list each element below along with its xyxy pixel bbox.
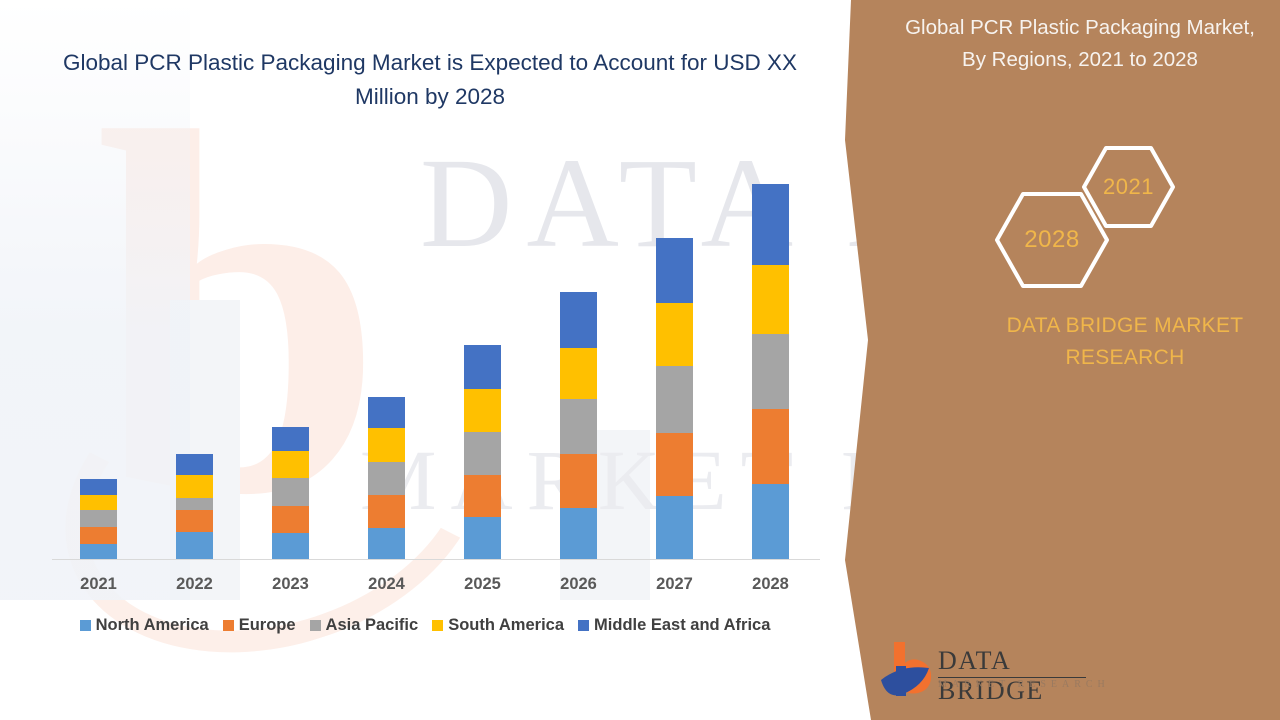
bar-segment[interactable] xyxy=(464,432,501,475)
bar-segment[interactable] xyxy=(656,303,693,366)
legend-item-europe[interactable]: Europe xyxy=(223,616,296,635)
bar-segment[interactable] xyxy=(80,479,117,495)
bar-segment[interactable] xyxy=(272,533,309,559)
bar-segment[interactable] xyxy=(560,508,597,559)
x-axis-label-2021: 2021 xyxy=(59,575,139,594)
bar-segment[interactable] xyxy=(176,475,213,498)
hexagon-2028-label: 2028 xyxy=(1024,226,1079,254)
slide-canvas: b DATA BRIDGE MARKET RESEARCH Global PCR… xyxy=(0,0,1280,720)
bar-segment[interactable] xyxy=(368,462,405,495)
bar-2028[interactable] xyxy=(752,184,789,559)
bar-segment[interactable] xyxy=(272,451,309,478)
bar-2027[interactable] xyxy=(656,238,693,559)
bar-segment[interactable] xyxy=(656,496,693,559)
bar-segment[interactable] xyxy=(464,475,501,517)
brand-name: DATA BRIDGE MARKET RESEARCH xyxy=(960,310,1280,374)
bar-2025[interactable] xyxy=(464,345,501,559)
bar-segment[interactable] xyxy=(560,399,597,454)
bar-segment[interactable] xyxy=(80,495,117,510)
bar-segment[interactable] xyxy=(752,484,789,559)
x-axis-label-2026: 2026 xyxy=(539,575,619,594)
bar-segment[interactable] xyxy=(752,334,789,409)
x-axis-label-2028: 2028 xyxy=(731,575,811,594)
bar-segment[interactable] xyxy=(80,510,117,527)
bar-2024[interactable] xyxy=(368,397,405,559)
bar-segment[interactable] xyxy=(176,510,213,532)
legend-swatch-icon xyxy=(223,620,234,631)
bar-segment[interactable] xyxy=(176,454,213,475)
data-bridge-logo: DATA BRIDGE MARKET RESEARCH xyxy=(880,638,1110,710)
bar-segment[interactable] xyxy=(368,397,405,428)
bar-segment[interactable] xyxy=(368,528,405,559)
chart-legend: North AmericaEuropeAsia PacificSouth Ame… xyxy=(0,616,850,635)
bar-segment[interactable] xyxy=(656,238,693,303)
legend-label: Europe xyxy=(239,616,296,635)
bar-segment[interactable] xyxy=(560,292,597,348)
bar-segment[interactable] xyxy=(560,454,597,508)
bar-2021[interactable] xyxy=(80,479,117,559)
bar-segment[interactable] xyxy=(80,544,117,559)
x-axis-line xyxy=(52,559,820,560)
bar-segment[interactable] xyxy=(368,428,405,462)
legend-item-asia-pacific[interactable]: Asia Pacific xyxy=(310,616,419,635)
x-axis-label-2023: 2023 xyxy=(251,575,331,594)
bar-segment[interactable] xyxy=(464,345,501,389)
legend-label: North America xyxy=(96,616,209,635)
x-axis-label-2025: 2025 xyxy=(443,575,523,594)
logo-divider xyxy=(938,677,1086,678)
x-axis-label-2022: 2022 xyxy=(155,575,235,594)
hexagon-2021: 2021 xyxy=(1081,145,1176,229)
bar-segment[interactable] xyxy=(272,478,309,506)
bar-2022[interactable] xyxy=(176,454,213,559)
legend-item-middle-east-and-africa[interactable]: Middle East and Africa xyxy=(578,616,770,635)
x-axis-label-2027: 2027 xyxy=(635,575,715,594)
bar-segment[interactable] xyxy=(176,498,213,510)
bar-segment[interactable] xyxy=(272,427,309,451)
bar-segment[interactable] xyxy=(368,495,405,528)
logo-wordmark: DATA BRIDGE xyxy=(938,646,1110,706)
bar-segment[interactable] xyxy=(560,348,597,399)
legend-swatch-icon xyxy=(432,620,443,631)
legend-label: Middle East and Africa xyxy=(594,616,770,635)
panel-title: Global PCR Plastic Packaging Market, By … xyxy=(900,12,1260,76)
legend-swatch-icon xyxy=(310,620,321,631)
chart-plot-area: 20212022202320242025202620272028 xyxy=(0,0,850,720)
bar-segment[interactable] xyxy=(752,409,789,484)
bar-segment[interactable] xyxy=(656,366,693,433)
legend-label: South America xyxy=(448,616,564,635)
legend-swatch-icon xyxy=(80,620,91,631)
legend-item-north-america[interactable]: North America xyxy=(80,616,209,635)
hexagon-2021-label: 2021 xyxy=(1103,174,1154,200)
bar-2023[interactable] xyxy=(272,427,309,559)
x-axis-label-2024: 2024 xyxy=(347,575,427,594)
bar-segment[interactable] xyxy=(176,532,213,559)
bar-segment[interactable] xyxy=(464,389,501,432)
bar-segment[interactable] xyxy=(752,184,789,265)
bar-2026[interactable] xyxy=(560,292,597,559)
logo-b-icon xyxy=(880,638,940,704)
legend-item-south-america[interactable]: South America xyxy=(432,616,564,635)
bar-segment[interactable] xyxy=(272,506,309,533)
legend-swatch-icon xyxy=(578,620,589,631)
legend-label: Asia Pacific xyxy=(326,616,419,635)
bar-segment[interactable] xyxy=(752,265,789,334)
bar-segment[interactable] xyxy=(656,433,693,496)
bar-segment[interactable] xyxy=(80,527,117,544)
logo-subtitle: MARKET RESEARCH xyxy=(938,679,1110,690)
bar-segment[interactable] xyxy=(464,517,501,559)
